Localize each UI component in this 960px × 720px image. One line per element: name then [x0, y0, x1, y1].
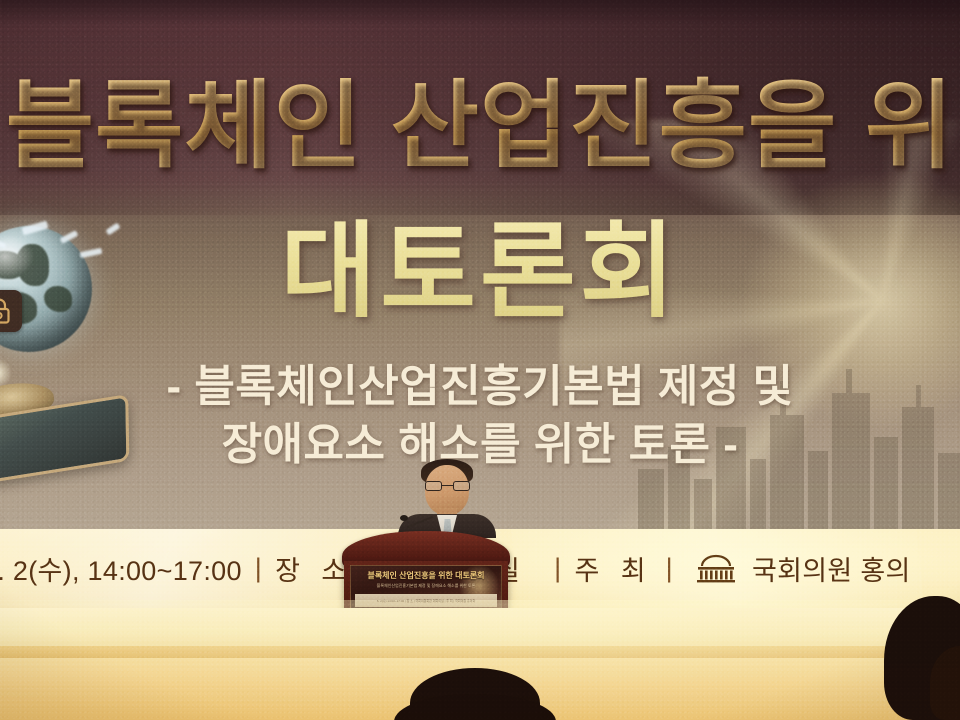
national-assembly-emblem-icon [692, 554, 740, 584]
stage-backdrop-lower [0, 608, 960, 646]
host-value: 국회의원 홍의 [752, 549, 911, 588]
banner-subtitle: - 블록체인산업진흥기본법 제정 및 장애요소 해소를 위한 토론 - [0, 358, 960, 474]
banner-title-main: 블록체인 산업진흥을 위 [0, 48, 960, 187]
banner-subtitle-line1: - 블록체인산업진흥기본법 제정 및 [0, 358, 960, 416]
info-divider: | [554, 553, 561, 584]
info-divider: | [666, 553, 673, 584]
podium-sign-footer: 5. 2(수) 14:00~17:00 | 장 소 | 국회의원회관 대회의실 … [355, 594, 497, 607]
conference-banner: 블록체인 산업진흥을 위 대토론회 - 블록체인산업진흥기본법 제정 및 장애요… [0, 0, 960, 529]
podium-sign: 블록체인 산업진흥을 위한 대토론회 블록체인산업진흥기본법 제정 및 장애요소… [350, 565, 502, 611]
podium-sign-subtitle: 블록체인산업진흥기본법 제정 및 장애요소 해소를 위한 토론 [351, 583, 501, 589]
speaker-figure [392, 459, 502, 535]
host-label: 주 최 [574, 549, 652, 588]
banner-title-second: 대토론회 [0, 186, 960, 337]
event-datetime: 5. 2(수), 14:00~17:00 [0, 549, 242, 588]
glasses-icon [425, 481, 470, 491]
microphone-head [400, 515, 408, 521]
stage-edge [0, 646, 960, 658]
info-divider: | [255, 553, 262, 584]
event-photo: 블록체인 산업진흥을 위 대토론회 - 블록체인산업진흥기본법 제정 및 장애요… [0, 0, 960, 720]
podium-sign-title: 블록체인 산업진흥을 위한 대토론회 [351, 570, 501, 581]
